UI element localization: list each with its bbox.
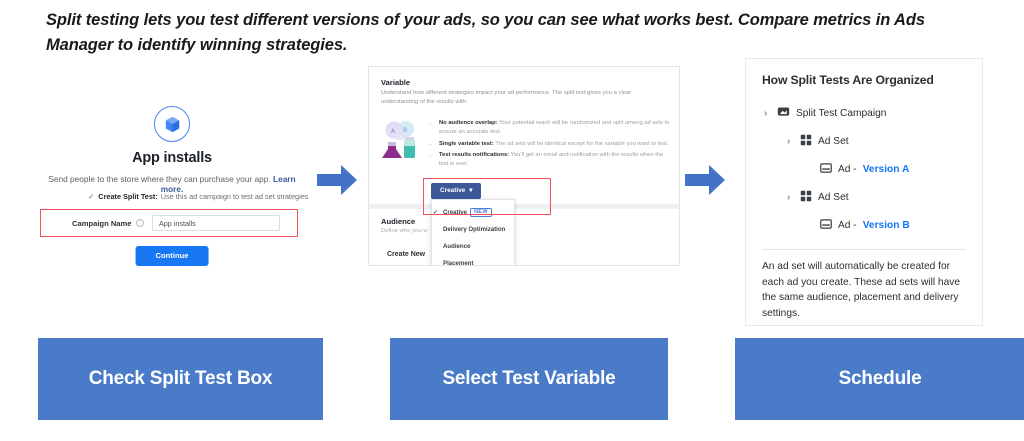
variable-heading: Variable [381,78,410,87]
panel1-title: App installs [36,150,308,166]
caption-box-check-split-test: Check Split Test Box [38,338,323,420]
panel1-subtitle: Send people to the store where they can … [36,174,308,194]
campaign-name-highlight-box [40,209,298,237]
menu-item-label: Audience [443,243,470,250]
checkmark-icon: ✓ [88,192,94,201]
arrow-right-icon-2 [683,163,727,197]
continue-button[interactable]: Continue [136,246,209,266]
menu-item-placement[interactable]: Placement [432,255,514,266]
tree-label: Ad - [838,164,857,175]
panel3-note: An ad set will automatically be created … [762,259,966,321]
list-item: Test results notifications: You'll get a… [439,151,671,169]
variable-dropdown-button[interactable]: Creative ▾ [431,183,481,199]
bullet-bold-1: Single variable test: [439,141,494,147]
audience-heading: Audience [381,217,415,226]
caption-box-schedule: Schedule [735,338,1024,420]
audience-description: Define who you w [381,228,428,234]
ad-window-icon [820,162,832,177]
bullet-bold-0: No audience overlap: [439,120,498,126]
tree-row-adset-1[interactable]: › Ad Set [762,127,966,155]
tree-label: Split Test Campaign [796,108,886,119]
divider [762,249,966,250]
app-cube-icon [154,106,190,142]
chevron-down-icon: ▾ [469,188,472,194]
variable-bullet-list: No audience overlap: Your potential reac… [431,119,671,169]
variable-bullets: No audience overlap: Your potential reac… [431,119,671,172]
ad-window-icon [820,218,832,233]
create-split-test-label-bold: Create Split Test: [98,192,157,201]
menu-item-delivery-optimization[interactable]: Delivery Optimization [432,221,514,238]
science-beakers-illustration: A B [382,120,424,160]
menu-item-label: Placement [443,260,473,266]
chevron-right-icon[interactable]: › [764,108,771,119]
panels-row: App installs Send people to the store wh… [0,58,1024,333]
version-b-link[interactable]: Version B [863,220,910,231]
tree-label: Ad Set [818,136,849,147]
panel1-subtitle-text: Send people to the store where they can … [48,174,270,184]
chevron-right-icon[interactable]: › [787,192,794,203]
panel-app-installs: App installs Send people to the store wh… [36,66,308,331]
version-a-link[interactable]: Version A [863,164,910,175]
tree-row-campaign[interactable]: › Split Test Campaign [762,99,966,127]
caption-boxes-row: Check Split Test Box Select Test Variabl… [0,338,1024,426]
create-new-label: Create New [387,251,425,258]
svg-text:B: B [403,127,407,134]
tree-label: Ad Set [818,192,849,203]
create-split-test-label-rest: Use this ad campaign to test ad set stra… [161,192,308,201]
chevron-right-icon[interactable]: › [787,136,794,147]
caption-box-select-test-variable: Select Test Variable [390,338,668,420]
tree-row-adset-2[interactable]: › Ad Set [762,183,966,211]
bullet-text-1: The ad sets will be identical except for… [495,141,668,147]
panel-split-test-structure: How Split Tests Are Organized › Split Te… [745,58,983,326]
tree-row-ad-version-b[interactable]: Ad - Version B [762,211,966,239]
variable-dropdown-label: Creative [440,188,465,194]
create-split-test-checkbox-row[interactable]: ✓ Create Split Test: Use this ad campaig… [88,192,308,201]
menu-item-label: Delivery Optimization [443,226,505,233]
page-title: Split testing lets you test different ve… [46,8,976,58]
menu-item-audience[interactable]: Audience [432,238,514,255]
list-item: No audience overlap: Your potential reac… [439,119,671,137]
tree-label: Ad - [838,220,857,231]
variable-description: Understand how different strategies impa… [381,89,657,106]
adset-grid-icon [800,190,812,205]
bullet-bold-2: Test results notifications: [439,152,509,158]
tree-row-ad-version-a[interactable]: Ad - Version A [762,155,966,183]
adset-grid-icon [800,134,812,149]
panel3-title: How Split Tests Are Organized [762,73,966,87]
campaign-icon [777,105,790,121]
panel-variable-dropdown: Variable Understand how different strate… [368,66,680,266]
list-item: Single variable test: The ad sets will b… [439,140,671,149]
arrow-right-icon-1 [315,163,359,197]
